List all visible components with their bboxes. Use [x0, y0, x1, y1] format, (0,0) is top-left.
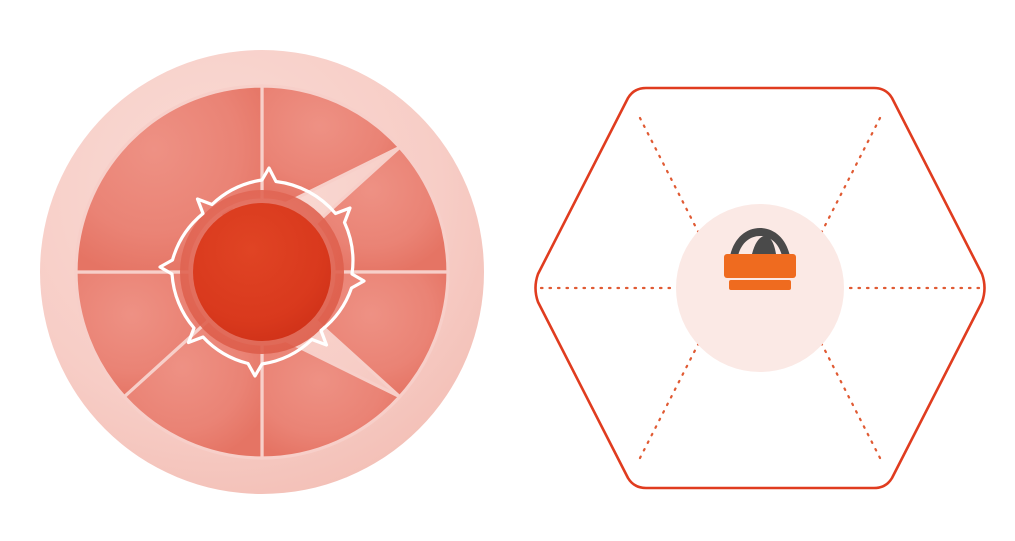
six-quality-systems-hexagon: [524, 78, 996, 498]
risk-control-wheel: [18, 28, 506, 516]
infographic-canvas: [0, 0, 1015, 541]
logo-en-bar: [729, 280, 791, 290]
wheel-core-circle: [193, 203, 331, 341]
logo-plate: [724, 254, 796, 278]
